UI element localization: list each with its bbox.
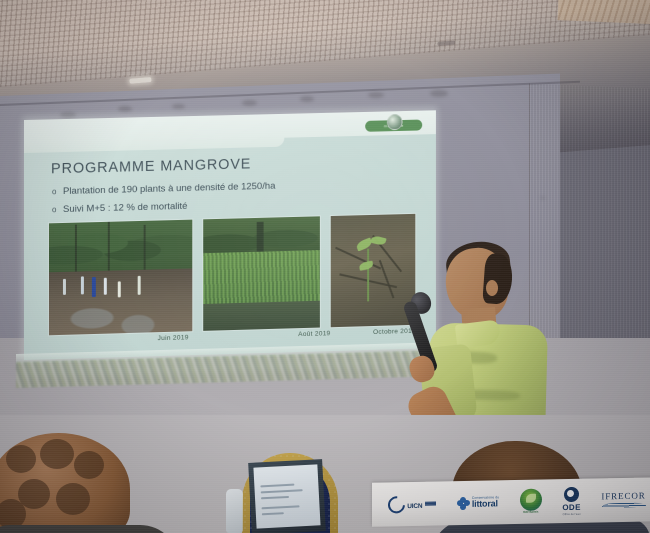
- ode-balisis-emblem-icon: [520, 489, 542, 511]
- hair-curl: [56, 483, 90, 515]
- ode-balisis-wordmark: Odé-Balisis: [523, 511, 538, 514]
- partner-logo-bar: UICN Conservatoire du littoral Odé-Balis…: [372, 477, 650, 527]
- laptop-screen-line: [262, 505, 300, 509]
- laptop-screen[interactable]: [253, 464, 320, 528]
- mangrove-programme-logo: mangrove: [365, 114, 422, 133]
- logo-uicn: UICN: [388, 495, 436, 514]
- hair-curl: [6, 445, 36, 473]
- photo-stem: [367, 248, 369, 301]
- projected-slide-area: mangrove PROGRAMME MANGROVE o Plantation…: [24, 110, 436, 372]
- ode-wordmark: ODE: [562, 502, 581, 511]
- wall-mark-4: [242, 100, 257, 106]
- wall-mark-5: [300, 96, 314, 102]
- photo-caption: Août 2019: [298, 330, 330, 338]
- bullet-marker-icon: o: [52, 203, 63, 216]
- bullet-item: o Plantation de 190 plants à une densité…: [52, 180, 275, 199]
- photo-caption: Juin 2019: [158, 334, 189, 342]
- water-bottle: [226, 489, 243, 533]
- uicn-bars-icon: [425, 501, 436, 506]
- wall-mark-8: [540, 196, 545, 200]
- slide-bullet-list: o Plantation de 190 plants à une densité…: [52, 180, 275, 222]
- photo-water-foreground: [203, 301, 320, 331]
- logo-ifrecor: IFRECOR: [601, 492, 645, 508]
- littoral-text: littoral: [472, 499, 498, 509]
- photo-person: [92, 277, 96, 297]
- wall-mark-7: [430, 90, 448, 97]
- bullet-marker-icon: o: [52, 185, 63, 198]
- ode-circle-icon: [564, 486, 579, 501]
- slide-photo-august: [202, 215, 321, 332]
- littoral-wordmark: Conservatoire du littoral: [472, 496, 499, 508]
- hair-curl: [74, 451, 104, 479]
- photo-person: [138, 276, 141, 295]
- flower-icon: [457, 496, 470, 509]
- uicn-ring-icon: [385, 492, 409, 516]
- photo-planting-site: [49, 220, 192, 336]
- photo-person: [104, 278, 107, 295]
- laptop-screen-line: [262, 512, 284, 515]
- laptop-screen-line: [261, 489, 303, 493]
- slide-title: PROGRAMME MANGROVE: [51, 156, 251, 177]
- hair-curl: [40, 439, 74, 469]
- bullet-text: Plantation de 190 plants à une densité d…: [63, 180, 275, 198]
- photo-trunk: [144, 225, 146, 272]
- photo-trunk: [108, 222, 110, 273]
- photo-young-vegetation: [203, 250, 320, 307]
- photo-leaf: [359, 261, 374, 271]
- ode-subtext: Office de l'eau: [563, 512, 581, 515]
- logo-conservatoire-littoral: Conservatoire du littoral: [457, 496, 499, 510]
- uicn-wordmark: UICN: [407, 503, 422, 510]
- ifrecor-wordmark: IFRECOR: [601, 492, 645, 502]
- screenshot-stage: mangrove PROGRAMME MANGROVE o Plantation…: [0, 0, 650, 533]
- logo-ode: ODE Office de l'eau: [562, 486, 581, 515]
- presenter-ear: [486, 280, 498, 296]
- slide-photo-june: [48, 219, 193, 337]
- slide-photo-row: [48, 213, 416, 336]
- audience-shoulders-left: [0, 525, 180, 533]
- wall-mark-2: [118, 106, 132, 112]
- laptop-screen-line: [260, 484, 294, 488]
- photo-trunk: [75, 225, 77, 274]
- photo-dead-trunk: [257, 222, 264, 253]
- laptop-screen-line: [261, 496, 289, 499]
- wall-mark-3: [172, 104, 185, 109]
- logo-ode-balisis: Odé-Balisis: [520, 489, 542, 514]
- photo-mudflat: [49, 269, 192, 336]
- photo-root: [379, 260, 394, 299]
- presentation-slide: mangrove PROGRAMME MANGROVE o Plantation…: [24, 110, 436, 360]
- photo-person: [118, 282, 121, 298]
- laptop[interactable]: [248, 459, 326, 533]
- presenter-hair-back: [482, 253, 513, 305]
- photo-person: [81, 276, 84, 294]
- wall-mark-6: [368, 92, 384, 98]
- photo-person: [63, 279, 66, 295]
- ifrecor-waves-icon: [602, 502, 646, 508]
- bullet-text: Suivi M+5 : 12 % de mortalité: [63, 200, 187, 216]
- photo-regrowth: [203, 216, 320, 331]
- bullet-item: o Suivi M+5 : 12 % de mortalité: [52, 198, 275, 217]
